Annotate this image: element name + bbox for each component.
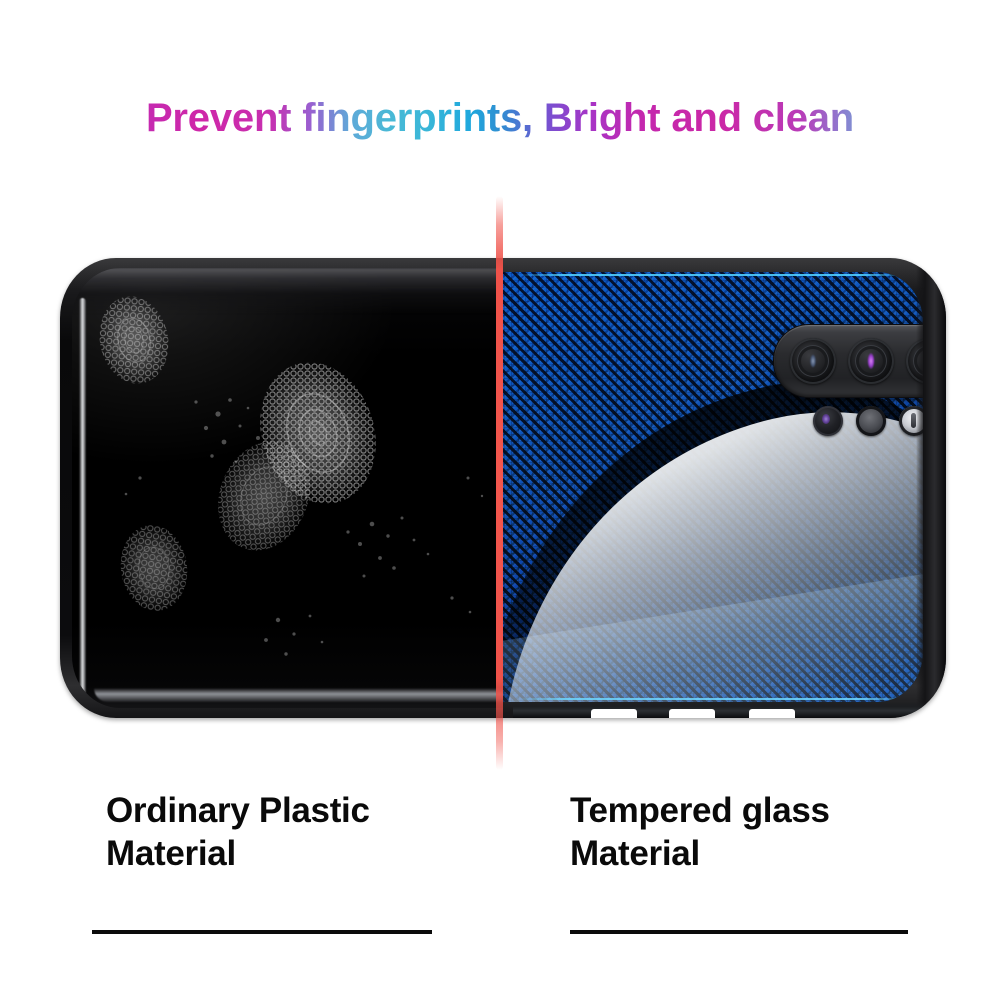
camera-lens-2 [848, 338, 894, 384]
left-caption-rule [92, 930, 432, 934]
tempered-glass-panel [503, 258, 946, 718]
glass-seam-bottom [517, 698, 909, 700]
plastic-edge-highlight [79, 298, 86, 698]
mini-camera-icon [813, 406, 843, 436]
carbon-fiber-surface [503, 272, 923, 702]
left-caption-line1: Ordinary Plastic [106, 790, 486, 833]
left-caption: Ordinary Plastic Material [106, 790, 486, 875]
phone-right-frame [916, 258, 946, 718]
glass-seam-top [517, 274, 909, 276]
comparison-divider [496, 196, 503, 770]
product-comparison-banner: Prevent fingerprints, Bright and clean [0, 0, 1000, 1000]
left-caption-line2: Material [106, 833, 486, 876]
bottom-cutout [591, 709, 637, 718]
lens-flare-icon [868, 353, 875, 369]
plastic-back-surface [72, 268, 503, 708]
phone-bottom-rim [513, 702, 933, 718]
right-caption-line1: Tempered glass [570, 790, 950, 833]
ordinary-plastic-panel [60, 258, 503, 718]
phone-body [60, 258, 946, 718]
phone-comparison-image [60, 258, 946, 718]
right-caption-line2: Material [570, 833, 950, 876]
fingerprint-smudges [72, 268, 503, 708]
camera-lens-1 [790, 338, 836, 384]
page-title: Prevent fingerprints, Bright and clean [0, 96, 1000, 141]
bottom-cutout [749, 709, 795, 718]
camera-secondary-row [813, 406, 923, 436]
plastic-bottom-rim [94, 688, 503, 702]
camera-module [773, 324, 923, 398]
lens-flare-icon [810, 355, 816, 368]
right-caption: Tempered glass Material [570, 790, 950, 875]
right-caption-rule [570, 930, 908, 934]
flash-icon [856, 406, 886, 436]
bottom-cutout [669, 709, 715, 718]
